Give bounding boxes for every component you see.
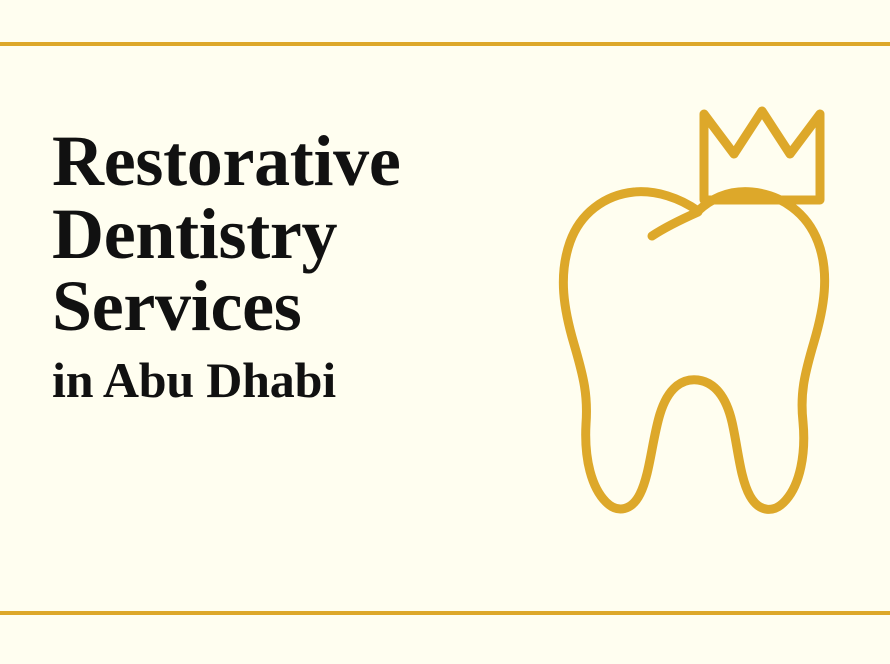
title-line-4-location: in Abu Dhabi: [52, 354, 522, 407]
crown-icon: [704, 111, 820, 200]
tooth-fissure-line: [652, 212, 698, 236]
crowned-tooth-svg: [548, 96, 848, 526]
page-title: Restorative Dentistry Services in Abu Dh…: [52, 126, 522, 406]
crowned-tooth-illustration: [548, 96, 848, 526]
title-line-1: Restorative: [52, 126, 522, 197]
promo-banner: Restorative Dentistry Services in Abu Dh…: [0, 0, 890, 664]
tooth-icon: [563, 192, 824, 510]
title-line-2: Dentistry: [52, 199, 522, 270]
title-line-3: Services: [52, 271, 522, 342]
